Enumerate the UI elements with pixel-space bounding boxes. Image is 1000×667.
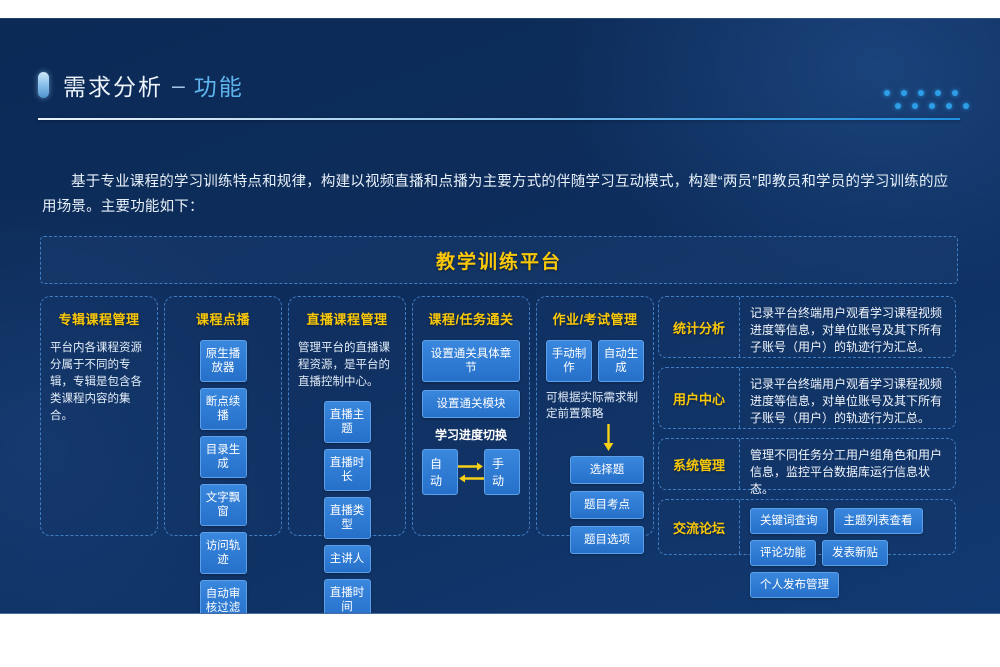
progress-switch-label: 学习进度切换 bbox=[422, 426, 520, 443]
column-title: 作业/考试管理 bbox=[546, 309, 644, 328]
column-course-task-pass: 课程/任务通关 设置通关具体章节 设置通关模块 学习进度切换 自动 手动 bbox=[412, 296, 530, 536]
column-title: 课程点播 bbox=[174, 309, 272, 328]
chip-live-type[interactable]: 直播类型 bbox=[324, 497, 371, 539]
column-title: 直播课程管理 bbox=[298, 309, 396, 328]
chip-live-topic[interactable]: 直播主题 bbox=[324, 401, 371, 443]
platform-title: 教学训练平台 bbox=[436, 247, 562, 274]
column-description: 平台内各课程资源分属于不同的专辑，专辑是包含各类课程内容的集合。 bbox=[50, 340, 148, 425]
question-chip-group: 选择题 题目考点 题目选项 bbox=[546, 456, 644, 554]
row-label: 系统管理 bbox=[659, 439, 740, 489]
chip-manual-create[interactable]: 手动制作 bbox=[546, 340, 592, 382]
row-label: 交流论坛 bbox=[659, 500, 740, 554]
right-feature-panel: 统计分析 记录平台终端用户观看学习课程视频进度等信息，对单位账号及其下所有子账号… bbox=[658, 296, 956, 564]
row-description: 记录平台终端用户观看学习课程视频进度等信息，对单位账号及其下所有子账号（用户）的… bbox=[750, 376, 945, 427]
dot-row-bottom bbox=[895, 103, 969, 109]
page-title: 需求分析 – 功能 bbox=[38, 68, 244, 102]
column-album-course-management: 专辑课程管理 平台内各课程资源分属于不同的专辑，专辑是包含各类课程内容的集合。 bbox=[40, 296, 158, 536]
row-statistics-analysis: 统计分析 记录平台终端用户观看学习课程视频进度等信息，对单位账号及其下所有子账号… bbox=[658, 296, 956, 358]
dot-icon bbox=[901, 90, 907, 96]
row-label: 统计分析 bbox=[659, 297, 740, 357]
dot-icon bbox=[912, 103, 918, 109]
chip-visit-trace[interactable]: 访问轨迹 bbox=[200, 532, 247, 574]
row-description: 记录平台终端用户观看学习课程视频进度等信息，对单位账号及其下所有子账号（用户）的… bbox=[750, 305, 945, 356]
column-live-course-management: 直播课程管理 管理平台的直播课程资源，是平台的直播控制中心。 直播主题 直播时长… bbox=[288, 296, 406, 536]
chip-live-time[interactable]: 直播时间 bbox=[324, 579, 371, 614]
row-body: 记录平台终端用户观看学习课程视频进度等信息，对单位账号及其下所有子账号（用户）的… bbox=[740, 297, 955, 357]
row-label: 用户中心 bbox=[659, 368, 740, 428]
column-homework-exam-management: 作业/考试管理 手动制作 自动生成 可根据实际需求制定前置策略 选择题 题目考点… bbox=[536, 296, 654, 536]
chip-resume-playback[interactable]: 断点续播 bbox=[200, 388, 247, 430]
chip-group: 原生播放器 断点续播 目录生成 文字飘窗 访问轨迹 自动审核过滤 bbox=[174, 340, 272, 614]
chip-native-player[interactable]: 原生播放器 bbox=[200, 340, 247, 382]
down-arrow-icon bbox=[546, 424, 644, 452]
bidirectional-arrow-icon bbox=[458, 462, 484, 483]
slide-canvas: 需求分析 – 功能 基于专业课程的学习训练特点和规律，构建以视频直播和点播为主要… bbox=[0, 18, 1000, 614]
row-body: 关键词查询 主题列表查看 评论功能 发表新贴 个人发布管理 bbox=[740, 500, 955, 554]
chip-auto-review-filter[interactable]: 自动审核过滤 bbox=[200, 580, 247, 614]
chip-choice-question[interactable]: 选择题 bbox=[570, 456, 644, 484]
dot-row-top bbox=[884, 90, 969, 96]
dot-icon bbox=[918, 90, 924, 96]
chip-lecturer[interactable]: 主讲人 bbox=[324, 545, 371, 573]
chip-new-post[interactable]: 发表新贴 bbox=[822, 540, 888, 566]
platform-banner: 教学训练平台 bbox=[40, 236, 958, 284]
feature-columns: 专辑课程管理 平台内各课程资源分属于不同的专辑，专辑是包含各类课程内容的集合。 … bbox=[40, 296, 654, 536]
row-body: 记录平台终端用户观看学习课程视频进度等信息，对单位账号及其下所有子账号（用户）的… bbox=[740, 368, 955, 428]
column-title: 专辑课程管理 bbox=[50, 309, 148, 328]
chip-group: 手动制作 自动生成 bbox=[546, 340, 644, 382]
row-discussion-forum: 交流论坛 关键词查询 主题列表查看 评论功能 发表新贴 个人发布管理 bbox=[658, 499, 956, 555]
dot-icon bbox=[884, 90, 890, 96]
forum-chip-group: 关键词查询 主题列表查看 评论功能 发表新贴 个人发布管理 bbox=[750, 508, 945, 598]
chip-personal-post-management[interactable]: 个人发布管理 bbox=[750, 572, 839, 598]
row-user-center: 用户中心 记录平台终端用户观看学习课程视频进度等信息，对单位账号及其下所有子账号… bbox=[658, 367, 956, 429]
title-main: 需求分析 bbox=[63, 68, 163, 102]
chip-toc-generate[interactable]: 目录生成 bbox=[200, 436, 247, 478]
dot-icon bbox=[952, 90, 958, 96]
title-bullet-icon bbox=[38, 72, 49, 98]
row-body: 管理不同任务分工用户组角色和用户信息，监控平台数据库运行信息状态。 bbox=[740, 439, 955, 489]
chip-manual-mode[interactable]: 手动 bbox=[484, 449, 520, 495]
chip-question-option[interactable]: 题目选项 bbox=[570, 526, 644, 554]
chip-question-point[interactable]: 题目考点 bbox=[570, 491, 644, 519]
chip-live-duration[interactable]: 直播时长 bbox=[324, 449, 371, 491]
chip-topic-list-view[interactable]: 主题列表查看 bbox=[834, 508, 923, 534]
column-course-on-demand: 课程点播 原生播放器 断点续播 目录生成 文字飘窗 访问轨迹 自动审核过滤 bbox=[164, 296, 282, 536]
dot-icon bbox=[929, 103, 935, 109]
dot-icon bbox=[935, 90, 941, 96]
row-description: 管理不同任务分工用户组角色和用户信息，监控平台数据库运行信息状态。 bbox=[750, 447, 945, 498]
auto-manual-switch: 自动 手动 bbox=[422, 449, 520, 495]
dot-icon bbox=[963, 103, 969, 109]
column-description: 管理平台的直播课程资源，是平台的直播控制中心。 bbox=[298, 340, 396, 391]
dot-icon bbox=[946, 103, 952, 109]
chip-set-pass-chapter[interactable]: 设置通关具体章节 bbox=[422, 340, 520, 382]
chip-group: 直播主题 直播时长 直播类型 主讲人 直播时间 直播状态 bbox=[298, 401, 396, 614]
chip-auto-generate[interactable]: 自动生成 bbox=[598, 340, 644, 382]
row-system-management: 系统管理 管理不同任务分工用户组角色和用户信息，监控平台数据库运行信息状态。 bbox=[658, 438, 956, 490]
header-divider bbox=[38, 118, 960, 120]
chip-auto-mode[interactable]: 自动 bbox=[422, 449, 458, 495]
chip-set-pass-module[interactable]: 设置通关模块 bbox=[422, 390, 520, 418]
dot-icon bbox=[895, 103, 901, 109]
column-title: 课程/任务通关 bbox=[422, 309, 520, 328]
header-dots-decoration bbox=[884, 90, 969, 109]
intro-paragraph: 基于专业课程的学习训练特点和规律，构建以视频直播和点播为主要方式的伴随学习互动模… bbox=[42, 170, 950, 220]
title-separator: – bbox=[172, 72, 185, 99]
title-sub: 功能 bbox=[194, 68, 244, 102]
chip-comment-feature[interactable]: 评论功能 bbox=[750, 540, 816, 566]
chip-keyword-search[interactable]: 关键词查询 bbox=[750, 508, 828, 534]
strategy-note: 可根据实际需求制定前置策略 bbox=[546, 390, 644, 422]
chip-text-float-window[interactable]: 文字飘窗 bbox=[200, 484, 247, 526]
